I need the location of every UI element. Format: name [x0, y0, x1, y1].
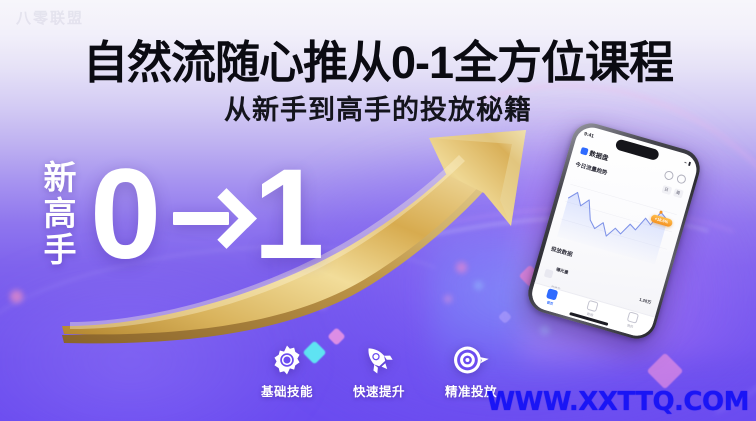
bell-icon[interactable] [676, 173, 687, 184]
target-icon [451, 342, 491, 378]
tab-label: 我的 [626, 323, 634, 330]
arrow-head [196, 188, 257, 249]
status-indicators: ⌁ ▮ [683, 159, 692, 167]
course-promo-poster: 八零联盟 自然流随心推从0-1全方位课程 从新手到高手的投放秘籍 [0, 0, 756, 421]
user-icon [626, 311, 638, 323]
bokeh-particle [10, 290, 23, 303]
tab-profile[interactable]: 我的 [625, 311, 639, 330]
zero-glyph: 0 [90, 151, 161, 279]
zero-to-one-headline: 0 1 [90, 150, 324, 280]
vertical-tag-char: 新 [44, 160, 77, 196]
feature-list: 基础技能 快速提升 [248, 342, 510, 404]
watermark-logo: 八零联盟 [16, 7, 84, 28]
vertical-tag-char: 手 [44, 232, 77, 268]
feature-item-fast-growth[interactable]: 快速提升 [340, 342, 418, 400]
chart-icon [586, 300, 598, 312]
feature-label: 基础技能 [261, 381, 313, 400]
app-brand: 数据盘 [579, 145, 610, 163]
list-item-value: 1.28万 [639, 296, 653, 305]
app-name: 数据盘 [588, 147, 610, 162]
app-logo-icon [580, 146, 589, 155]
tab-data[interactable]: 数据 [585, 300, 599, 319]
vertical-tag-char: 高 [44, 196, 77, 232]
home-icon [546, 288, 558, 300]
rocket-icon [361, 342, 397, 378]
arrow-right-icon [171, 185, 243, 245]
tab-label: 首页 [546, 300, 554, 307]
search-icon[interactable] [663, 169, 674, 180]
vertical-tag-xin-gao-shou: 新 高 手 [38, 160, 82, 268]
list-item-icon [543, 268, 553, 278]
page-title: 自然流随心推从0-1全方位课程 [0, 36, 756, 90]
one-glyph: 1 [253, 151, 324, 279]
app-header-icons [663, 169, 687, 184]
gear-icon [270, 342, 304, 378]
site-url-watermark: WWW.XXTTQ.COM [487, 387, 750, 417]
feature-label: 快速提升 [353, 381, 405, 400]
diamond-particle [647, 353, 684, 390]
tab-home[interactable]: 首页 [545, 288, 559, 307]
status-time: 9:41 [583, 131, 594, 140]
list-item-name: 曝光量 [556, 266, 569, 274]
page-subtitle: 从新手到高手的投放秘籍 [0, 93, 756, 127]
feature-item-basic-skills[interactable]: 基础技能 [248, 342, 326, 400]
